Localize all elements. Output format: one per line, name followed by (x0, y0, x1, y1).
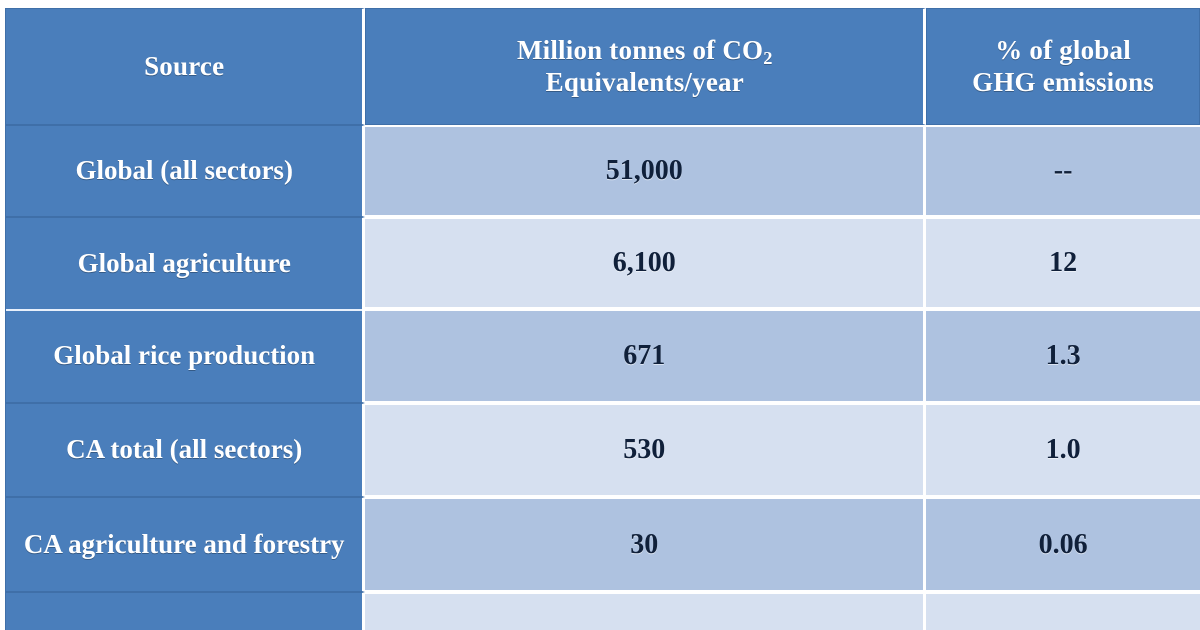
table-container: Source Million tonnes of CO2 Equivalents… (0, 0, 1200, 630)
row-pct-global-value: -- (926, 125, 1200, 217)
row-source-label: CA rice production (5, 592, 365, 630)
row-million-tonnes-value: 671 (365, 309, 926, 403)
table-row: Global (all sectors) 51,000 -- (5, 125, 1200, 217)
table-body: Global (all sectors) 51,000 -- Global ag… (5, 125, 1200, 630)
table-row: Global agriculture 6,100 12 (5, 217, 1200, 309)
header-row: Source Million tonnes of CO2 Equivalents… (5, 8, 1200, 125)
row-source-label: CA total (all sectors) (5, 403, 365, 497)
row-million-tonnes-value: 6,100 (365, 217, 926, 309)
row-source-label: Global agriculture (5, 217, 365, 309)
column-header-million-tonnes: Million tonnes of CO2 Equivalents/year (365, 8, 926, 125)
row-pct-global-value: 1.0 (926, 403, 1200, 497)
column-header-source: Source (5, 8, 365, 125)
row-million-tonnes-value: 30 (365, 497, 926, 592)
column-header-million-tonnes-line2: Equivalents/year (546, 67, 744, 97)
co2-subscript: 2 (763, 48, 772, 68)
column-header-pct-global-line2: GHG emissions (972, 67, 1154, 97)
column-header-pct-global: % of global GHG emissions (926, 8, 1200, 125)
row-source-label: Global rice production (5, 309, 365, 403)
row-million-tonnes-value: 51,000 (365, 125, 926, 217)
column-header-million-tonnes-line1: Million tonnes of CO (517, 35, 763, 65)
column-header-source-label: Source (144, 51, 224, 81)
row-pct-global-value: 12 (926, 217, 1200, 309)
row-pct-global-value: 1.3 (926, 309, 1200, 403)
ghg-emissions-table: Source Million tonnes of CO2 Equivalents… (5, 8, 1200, 630)
row-source-label: CA agriculture and forestry (5, 497, 365, 592)
row-source-label: Global (all sectors) (5, 125, 365, 217)
column-header-pct-global-line1: % of global (995, 35, 1131, 65)
table-row: CA rice production 0.6 0.001 (5, 592, 1200, 630)
table-row: CA agriculture and forestry 30 0.06 (5, 497, 1200, 592)
table-header: Source Million tonnes of CO2 Equivalents… (5, 8, 1200, 125)
row-million-tonnes-value: 0.6 (365, 592, 926, 630)
row-pct-global-value: 0.06 (926, 497, 1200, 592)
table-row: Global rice production 671 1.3 (5, 309, 1200, 403)
row-million-tonnes-value: 530 (365, 403, 926, 497)
table-row: CA total (all sectors) 530 1.0 (5, 403, 1200, 497)
row-pct-global-value: 0.001 (926, 592, 1200, 630)
